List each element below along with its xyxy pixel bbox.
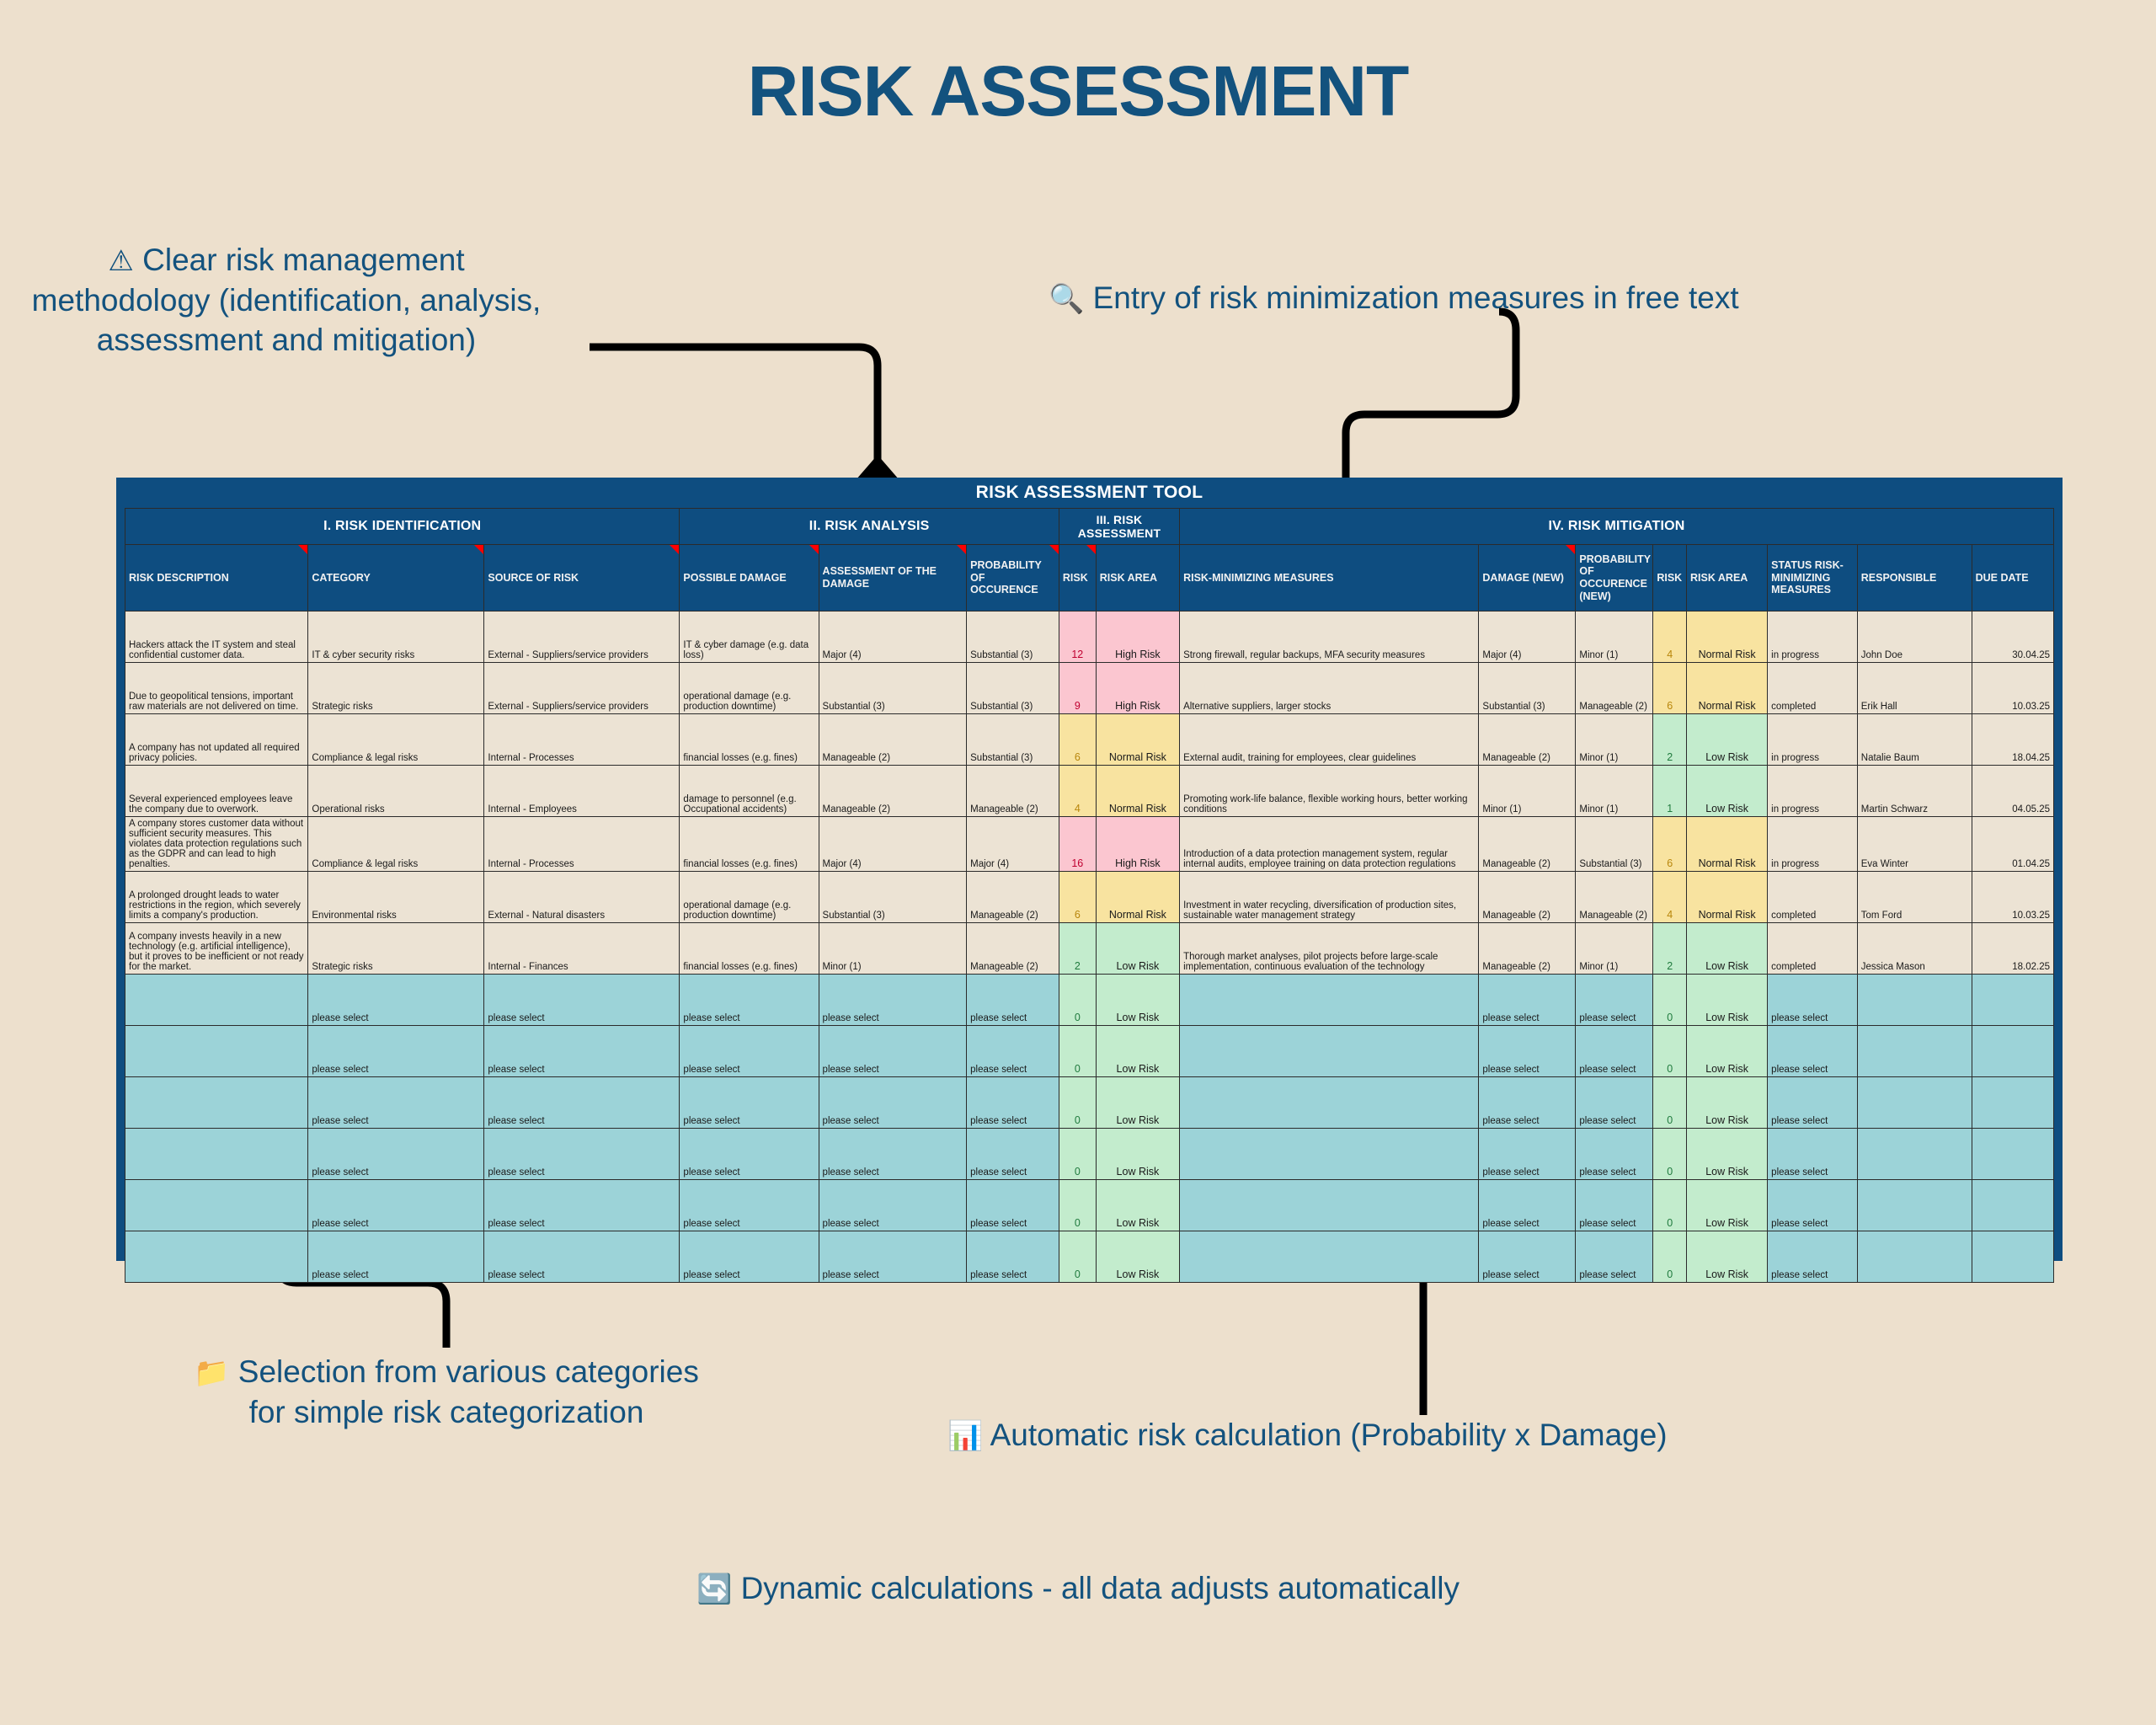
cell-source[interactable]: please select	[484, 1129, 680, 1180]
callout-dynamic-text: Dynamic calculations - all data adjusts …	[741, 1571, 1460, 1605]
cell-probability-new[interactable]: Minor (1)	[1576, 611, 1653, 663]
cell-due-date[interactable]	[1972, 1129, 2053, 1180]
cell-damage-new[interactable]: please select	[1479, 1077, 1576, 1129]
cell-source[interactable]: please select	[484, 975, 680, 1026]
cell-damage-assessment[interactable]: Manageable (2)	[819, 714, 967, 766]
cell-risk-score-new: 0	[1653, 1180, 1687, 1231]
cell-due-date[interactable]: 18.04.25	[1972, 714, 2053, 766]
cell-possible-damage[interactable]: financial losses (e.g. fines)	[680, 714, 819, 766]
cell-risk-area: Normal Risk	[1096, 714, 1179, 766]
cell-risk-area-new: Low Risk	[1687, 1026, 1768, 1077]
column-header-row: RISK DESCRIPTIONCATEGORYSOURCE OF RISKPO…	[125, 545, 2054, 611]
cell-risk-score: 0	[1059, 1180, 1096, 1231]
column-header-damage-new-9[interactable]: DAMAGE (NEW)	[1479, 545, 1576, 611]
cell-status[interactable]: in progress	[1768, 817, 1858, 872]
cell-source[interactable]: please select	[484, 1180, 680, 1231]
cell-status[interactable]: in progress	[1768, 611, 1858, 663]
cell-risk-area: High Risk	[1096, 817, 1179, 872]
risk-assessment-tool: RISK ASSESSMENT TOOL I. RISK IDENTIFICAT…	[116, 478, 2063, 1261]
cell-damage-new[interactable]: please select	[1479, 1129, 1576, 1180]
cell-responsible[interactable]: Martin Schwarz	[1857, 766, 1972, 817]
callout-auto-calc-text: Automatic risk calculation (Probability …	[990, 1418, 1668, 1452]
cell-damage-new[interactable]: please select	[1479, 1026, 1576, 1077]
cell-description[interactable]	[125, 1180, 308, 1231]
cell-damage-assessment[interactable]: please select	[819, 975, 967, 1026]
cell-probability[interactable]: Substantial (3)	[967, 611, 1059, 663]
cell-possible-damage[interactable]: please select	[680, 1180, 819, 1231]
cell-category[interactable]: please select	[308, 1026, 484, 1077]
cell-damage-assessment[interactable]: Major (4)	[819, 817, 967, 872]
cell-damage-assessment[interactable]: Minor (1)	[819, 923, 967, 975]
cell-damage-assessment[interactable]: please select	[819, 1129, 967, 1180]
connector-methodology	[590, 347, 878, 480]
cell-risk-area-new: Low Risk	[1687, 1180, 1768, 1231]
cell-measures[interactable]	[1180, 1129, 1479, 1180]
cell-damage-assessment[interactable]: please select	[819, 1077, 967, 1129]
cell-category[interactable]: please select	[308, 1129, 484, 1180]
cell-damage-new[interactable]: Substantial (3)	[1479, 663, 1576, 714]
cell-risk-area-new: Normal Risk	[1687, 663, 1768, 714]
table-row: A company stores customer data without s…	[125, 817, 2054, 872]
cell-risk-area-new: Normal Risk	[1687, 817, 1768, 872]
cell-probability-new[interactable]: Minor (1)	[1576, 714, 1653, 766]
cell-probability-new[interactable]: please select	[1576, 1129, 1653, 1180]
callout-categories: 📁 Selection from various categories for …	[194, 1352, 699, 1432]
cell-probability[interactable]: Major (4)	[967, 817, 1059, 872]
cell-probability[interactable]: Manageable (2)	[967, 872, 1059, 923]
table-row: Due to geopolitical tensions, important …	[125, 663, 2054, 714]
cell-source[interactable]: please select	[484, 1231, 680, 1283]
cell-possible-damage[interactable]: please select	[680, 1129, 819, 1180]
table-row-empty: please selectplease selectplease selectp…	[125, 975, 2054, 1026]
column-header-possible-damage-3[interactable]: POSSIBLE DAMAGE	[680, 545, 819, 611]
cell-due-date[interactable]	[1972, 1077, 2053, 1129]
cell-responsible[interactable]	[1857, 975, 1972, 1026]
column-header-assessment-of-the-damage-4[interactable]: ASSESSMENT OF THE DAMAGE	[819, 545, 967, 611]
cell-responsible[interactable]: Jessica Mason	[1857, 923, 1972, 975]
cell-risk-area: Low Risk	[1096, 1129, 1179, 1180]
magnifier-icon: 🔍	[1049, 283, 1084, 315]
cell-source[interactable]: Internal - Finances	[484, 923, 680, 975]
cell-status[interactable]: please select	[1768, 1231, 1858, 1283]
column-header-risk-area-12[interactable]: RISK AREA	[1687, 545, 1768, 611]
cell-source[interactable]: Internal - Processes	[484, 817, 680, 872]
cell-probability[interactable]: please select	[967, 1180, 1059, 1231]
cell-risk-score-new: 4	[1653, 611, 1687, 663]
cell-risk-score: 0	[1059, 1231, 1096, 1283]
cell-risk-score: 6	[1059, 872, 1096, 923]
cell-risk-score: 9	[1059, 663, 1096, 714]
cell-probability[interactable]: Manageable (2)	[967, 766, 1059, 817]
section-header-row: I. RISK IDENTIFICATIONII. RISK ANALYSISI…	[125, 509, 2054, 545]
cell-probability-new[interactable]: please select	[1576, 1180, 1653, 1231]
cell-risk-area-new: Normal Risk	[1687, 872, 1768, 923]
cell-risk-score: 12	[1059, 611, 1096, 663]
cell-damage-new[interactable]: Major (4)	[1479, 611, 1576, 663]
cell-probability-new[interactable]: Manageable (2)	[1576, 663, 1653, 714]
cell-description[interactable]: Several experienced employees leave the …	[125, 766, 308, 817]
cell-responsible[interactable]: Erik Hall	[1857, 663, 1972, 714]
cell-risk-area: High Risk	[1096, 663, 1179, 714]
cell-measures[interactable]	[1180, 1231, 1479, 1283]
cell-damage-assessment[interactable]: please select	[819, 1180, 967, 1231]
cell-risk-score-new: 6	[1653, 817, 1687, 872]
cell-risk-area-new: Low Risk	[1687, 1231, 1768, 1283]
cell-risk-area: Low Risk	[1096, 1180, 1179, 1231]
cell-due-date[interactable]: 10.03.25	[1972, 663, 2053, 714]
cell-risk-area: Low Risk	[1096, 923, 1179, 975]
cell-risk-area: Low Risk	[1096, 1231, 1179, 1283]
cell-status[interactable]: completed	[1768, 663, 1858, 714]
cell-description[interactable]	[125, 1077, 308, 1129]
page-title: RISK ASSESSMENT	[0, 51, 2156, 132]
cell-risk-area: Low Risk	[1096, 1026, 1179, 1077]
section-header-4: IV. RISK MITIGATION	[1180, 509, 2054, 545]
cell-damage-new[interactable]: Manageable (2)	[1479, 923, 1576, 975]
cell-measures[interactable]: Investment in water recycling, diversifi…	[1180, 872, 1479, 923]
cell-risk-score: 0	[1059, 1129, 1096, 1180]
cell-description[interactable]: A prolonged drought leads to water restr…	[125, 872, 308, 923]
cell-probability-new[interactable]: please select	[1576, 1026, 1653, 1077]
cell-risk-score-new: 6	[1653, 663, 1687, 714]
cell-due-date[interactable]: 30.04.25	[1972, 611, 2053, 663]
cell-possible-damage[interactable]: operational damage (e.g. production down…	[680, 663, 819, 714]
cell-probability-new[interactable]: please select	[1576, 975, 1653, 1026]
cell-risk-area-new: Normal Risk	[1687, 611, 1768, 663]
cell-probability[interactable]: please select	[967, 1129, 1059, 1180]
column-header-risk-area-7[interactable]: RISK AREA	[1096, 545, 1179, 611]
cell-category[interactable]: Compliance & legal risks	[308, 714, 484, 766]
cell-probability[interactable]: Manageable (2)	[967, 923, 1059, 975]
cell-description[interactable]	[125, 1231, 308, 1283]
cell-responsible[interactable]	[1857, 1129, 1972, 1180]
cell-probability[interactable]: Substantial (3)	[967, 714, 1059, 766]
column-header-responsible-14[interactable]: RESPONSIBLE	[1857, 545, 1972, 611]
column-header-due-date-15[interactable]: DUE DATE	[1972, 545, 2053, 611]
column-header-source-of-risk-2[interactable]: SOURCE OF RISK	[484, 545, 680, 611]
cell-measures[interactable]: Introduction of a data protection manage…	[1180, 817, 1479, 872]
cell-measures[interactable]: External audit, training for employees, …	[1180, 714, 1479, 766]
cell-measures[interactable]: Strong firewall, regular backups, MFA se…	[1180, 611, 1479, 663]
cell-measures[interactable]: Alternative suppliers, larger stocks	[1180, 663, 1479, 714]
cell-due-date[interactable]: 01.04.25	[1972, 817, 2053, 872]
table-row-empty: please selectplease selectplease selectp…	[125, 1180, 2054, 1231]
column-header-risk-11[interactable]: RISK	[1653, 545, 1687, 611]
cell-responsible[interactable]: John Doe	[1857, 611, 1972, 663]
cell-risk-area-new: Low Risk	[1687, 923, 1768, 975]
cell-risk-score: 0	[1059, 1077, 1096, 1129]
cell-risk-score-new: 1	[1653, 766, 1687, 817]
cell-status[interactable]: in progress	[1768, 714, 1858, 766]
cell-damage-new[interactable]: Manageable (2)	[1479, 714, 1576, 766]
cell-damage-new[interactable]: Manageable (2)	[1479, 817, 1576, 872]
cell-possible-damage[interactable]: operational damage (e.g. production down…	[680, 872, 819, 923]
risk-table: I. RISK IDENTIFICATIONII. RISK ANALYSISI…	[125, 508, 2054, 1283]
cell-status[interactable]: please select	[1768, 1077, 1858, 1129]
risk-table-body: Hackers attack the IT system and steal c…	[125, 611, 2054, 1283]
cell-probability-new[interactable]: Minor (1)	[1576, 923, 1653, 975]
column-header-probability-of-occurence-new-10[interactable]: PROBABILITY OF OCCURENCE (NEW)	[1576, 545, 1653, 611]
cell-responsible[interactable]	[1857, 1077, 1972, 1129]
cell-risk-score: 6	[1059, 714, 1096, 766]
cell-damage-assessment[interactable]: Substantial (3)	[819, 872, 967, 923]
cell-description[interactable]: Due to geopolitical tensions, important …	[125, 663, 308, 714]
cell-description[interactable]: Hackers attack the IT system and steal c…	[125, 611, 308, 663]
cell-responsible[interactable]	[1857, 1026, 1972, 1077]
cell-risk-score-new: 2	[1653, 714, 1687, 766]
cell-source[interactable]: please select	[484, 1077, 680, 1129]
cell-probability[interactable]: please select	[967, 975, 1059, 1026]
column-header-status-risk-minimizing-measures-13[interactable]: STATUS RISK-MINIMIZING MEASURES	[1768, 545, 1858, 611]
cell-possible-damage[interactable]: please select	[680, 975, 819, 1026]
cell-risk-area: Low Risk	[1096, 975, 1179, 1026]
cell-risk-score-new: 0	[1653, 1129, 1687, 1180]
cell-due-date[interactable]	[1972, 975, 2053, 1026]
cell-probability[interactable]: Substantial (3)	[967, 663, 1059, 714]
cell-description[interactable]	[125, 1129, 308, 1180]
cell-risk-area: Low Risk	[1096, 1077, 1179, 1129]
cell-damage-new[interactable]: please select	[1479, 975, 1576, 1026]
cell-status[interactable]: completed	[1768, 923, 1858, 975]
spreadsheet-grid[interactable]: I. RISK IDENTIFICATIONII. RISK ANALYSISI…	[125, 508, 2054, 1283]
cell-risk-area-new: Low Risk	[1687, 1077, 1768, 1129]
cell-responsible[interactable]	[1857, 1180, 1972, 1231]
cell-responsible[interactable]: Tom Ford	[1857, 872, 1972, 923]
cell-category[interactable]: Operational risks	[308, 766, 484, 817]
folder-icon: 📁	[194, 1357, 229, 1389]
cell-damage-assessment[interactable]: please select	[819, 1026, 967, 1077]
cell-risk-score-new: 4	[1653, 872, 1687, 923]
cell-risk-score: 4	[1059, 766, 1096, 817]
cell-probability-new[interactable]: please select	[1576, 1077, 1653, 1129]
column-header-probability-of-occurence-5[interactable]: PROBABILITY OF OCCURENCE	[967, 545, 1059, 611]
section-header-1: I. RISK IDENTIFICATION	[125, 509, 680, 545]
cell-responsible[interactable]: Eva Winter	[1857, 817, 1972, 872]
cell-risk-score-new: 0	[1653, 1231, 1687, 1283]
column-header-risk-minimizing-measures-8[interactable]: RISK-MINIMIZING MEASURES	[1180, 545, 1479, 611]
cell-risk-score: 0	[1059, 1026, 1096, 1077]
cell-source[interactable]: External - Suppliers/service providers	[484, 611, 680, 663]
sheet-title: RISK ASSESSMENT TOOL	[116, 478, 2063, 508]
cell-measures[interactable]: Promoting work-life balance, flexible wo…	[1180, 766, 1479, 817]
cell-category[interactable]: please select	[308, 1077, 484, 1129]
cell-damage-new[interactable]: Minor (1)	[1479, 766, 1576, 817]
cell-responsible[interactable]	[1857, 1231, 1972, 1283]
cell-risk-score-new: 0	[1653, 1026, 1687, 1077]
table-row: A prolonged drought leads to water restr…	[125, 872, 2054, 923]
cell-category[interactable]: Compliance & legal risks	[308, 817, 484, 872]
table-row-empty: please selectplease selectplease selectp…	[125, 1077, 2054, 1129]
cell-due-date[interactable]	[1972, 1180, 2053, 1231]
cell-category[interactable]: Strategic risks	[308, 923, 484, 975]
cell-probability-new[interactable]: Manageable (2)	[1576, 872, 1653, 923]
cell-probability-new[interactable]: please select	[1576, 1231, 1653, 1283]
cell-risk-score: 0	[1059, 975, 1096, 1026]
column-header-category-1[interactable]: CATEGORY	[308, 545, 484, 611]
cell-due-date[interactable]: 18.02.25	[1972, 923, 2053, 975]
cell-status[interactable]: please select	[1768, 1129, 1858, 1180]
callout-free-text: 🔍 Entry of risk minimization measures in…	[1049, 278, 1992, 318]
cell-risk-score: 16	[1059, 817, 1096, 872]
cell-possible-damage[interactable]: IT & cyber damage (e.g. data loss)	[680, 611, 819, 663]
cell-risk-area-new: Low Risk	[1687, 1129, 1768, 1180]
cell-category[interactable]: Environmental risks	[308, 872, 484, 923]
cell-risk-area: Normal Risk	[1096, 872, 1179, 923]
table-row-empty: please selectplease selectplease selectp…	[125, 1129, 2054, 1180]
cell-probability[interactable]: please select	[967, 1026, 1059, 1077]
table-row: A company has not updated all required p…	[125, 714, 2054, 766]
cell-due-date[interactable]: 10.03.25	[1972, 872, 2053, 923]
cell-due-date[interactable]	[1972, 1026, 2053, 1077]
cell-source[interactable]: Internal - Employees	[484, 766, 680, 817]
cell-risk-area: Normal Risk	[1096, 766, 1179, 817]
section-header-3: III. RISK ASSESSMENT	[1059, 509, 1179, 545]
cell-measures[interactable]	[1180, 1077, 1479, 1129]
cell-measures[interactable]: Thorough market analyses, pilot projects…	[1180, 923, 1479, 975]
cell-damage-new[interactable]: please select	[1479, 1231, 1576, 1283]
cell-source[interactable]: please select	[484, 1026, 680, 1077]
cell-probability-new[interactable]: Substantial (3)	[1576, 817, 1653, 872]
cell-possible-damage[interactable]: please select	[680, 1231, 819, 1283]
cell-category[interactable]: IT & cyber security risks	[308, 611, 484, 663]
cell-category[interactable]: please select	[308, 975, 484, 1026]
refresh-icon: 🔄	[696, 1573, 732, 1605]
cell-measures[interactable]	[1180, 975, 1479, 1026]
cell-damage-new[interactable]: Manageable (2)	[1479, 872, 1576, 923]
callout-methodology: ⚠ Clear risk management methodology (ide…	[17, 240, 556, 360]
section-header-2: II. RISK ANALYSIS	[680, 509, 1059, 545]
cell-description[interactable]: A company stores customer data without s…	[125, 817, 308, 872]
cell-due-date[interactable]	[1972, 1231, 2053, 1283]
warning-icon: ⚠	[108, 245, 133, 277]
column-header-risk-description-0[interactable]: RISK DESCRIPTION	[125, 545, 308, 611]
cell-responsible[interactable]: Natalie Baum	[1857, 714, 1972, 766]
cell-description[interactable]	[125, 1026, 308, 1077]
cell-possible-damage[interactable]: financial losses (e.g. fines)	[680, 923, 819, 975]
cell-risk-area-new: Low Risk	[1687, 766, 1768, 817]
cell-possible-damage[interactable]: please select	[680, 1026, 819, 1077]
cell-risk-score: 2	[1059, 923, 1096, 975]
bar-chart-icon: 📊	[947, 1420, 983, 1452]
cell-probability[interactable]: please select	[967, 1231, 1059, 1283]
cell-description[interactable]: A company invests heavily in a new techn…	[125, 923, 308, 975]
callout-auto-calc: 📊 Automatic risk calculation (Probabilit…	[947, 1415, 1941, 1455]
cell-possible-damage[interactable]: please select	[680, 1077, 819, 1129]
cell-measures[interactable]	[1180, 1180, 1479, 1231]
cell-measures[interactable]	[1180, 1026, 1479, 1077]
cell-due-date[interactable]: 04.05.25	[1972, 766, 2053, 817]
cell-possible-damage[interactable]: damage to personnel (e.g. Occupational a…	[680, 766, 819, 817]
cell-risk-area-new: Low Risk	[1687, 975, 1768, 1026]
column-header-risk-6[interactable]: RISK	[1059, 545, 1096, 611]
cell-status[interactable]: please select	[1768, 1026, 1858, 1077]
table-row-empty: please selectplease selectplease selectp…	[125, 1231, 2054, 1283]
table-row: Several experienced employees leave the …	[125, 766, 2054, 817]
cell-description[interactable]: A company has not updated all required p…	[125, 714, 308, 766]
cell-risk-score-new: 0	[1653, 975, 1687, 1026]
cell-probability-new[interactable]: Minor (1)	[1576, 766, 1653, 817]
table-row: A company invests heavily in a new techn…	[125, 923, 2054, 975]
cell-description[interactable]	[125, 975, 308, 1026]
cell-source[interactable]: Internal - Processes	[484, 714, 680, 766]
cell-category[interactable]: please select	[308, 1180, 484, 1231]
callout-free-text-text: Entry of risk minimization measures in f…	[1093, 280, 1739, 315]
table-row: Hackers attack the IT system and steal c…	[125, 611, 2054, 663]
table-row-empty: please selectplease selectplease selectp…	[125, 1026, 2054, 1077]
cell-category[interactable]: Strategic risks	[308, 663, 484, 714]
callout-categories-text: Selection from various categories for si…	[238, 1354, 699, 1429]
cell-damage-assessment[interactable]: Major (4)	[819, 611, 967, 663]
cell-damage-assessment[interactable]: Manageable (2)	[819, 766, 967, 817]
cell-risk-score-new: 0	[1653, 1077, 1687, 1129]
cell-damage-assessment[interactable]: Substantial (3)	[819, 663, 967, 714]
cell-source[interactable]: External - Suppliers/service providers	[484, 663, 680, 714]
cell-risk-area: High Risk	[1096, 611, 1179, 663]
cell-source[interactable]: External - Natural disasters	[484, 872, 680, 923]
cell-possible-damage[interactable]: financial losses (e.g. fines)	[680, 817, 819, 872]
cell-risk-area-new: Low Risk	[1687, 714, 1768, 766]
cell-category[interactable]: please select	[308, 1231, 484, 1283]
cell-status[interactable]: please select	[1768, 975, 1858, 1026]
callout-dynamic: 🔄 Dynamic calculations - all data adjust…	[0, 1568, 2156, 1609]
cell-status[interactable]: completed	[1768, 872, 1858, 923]
cell-status[interactable]: please select	[1768, 1180, 1858, 1231]
cell-risk-score-new: 2	[1653, 923, 1687, 975]
cell-damage-assessment[interactable]: please select	[819, 1231, 967, 1283]
cell-status[interactable]: in progress	[1768, 766, 1858, 817]
cell-probability[interactable]: please select	[967, 1077, 1059, 1129]
cell-damage-new[interactable]: please select	[1479, 1180, 1576, 1231]
